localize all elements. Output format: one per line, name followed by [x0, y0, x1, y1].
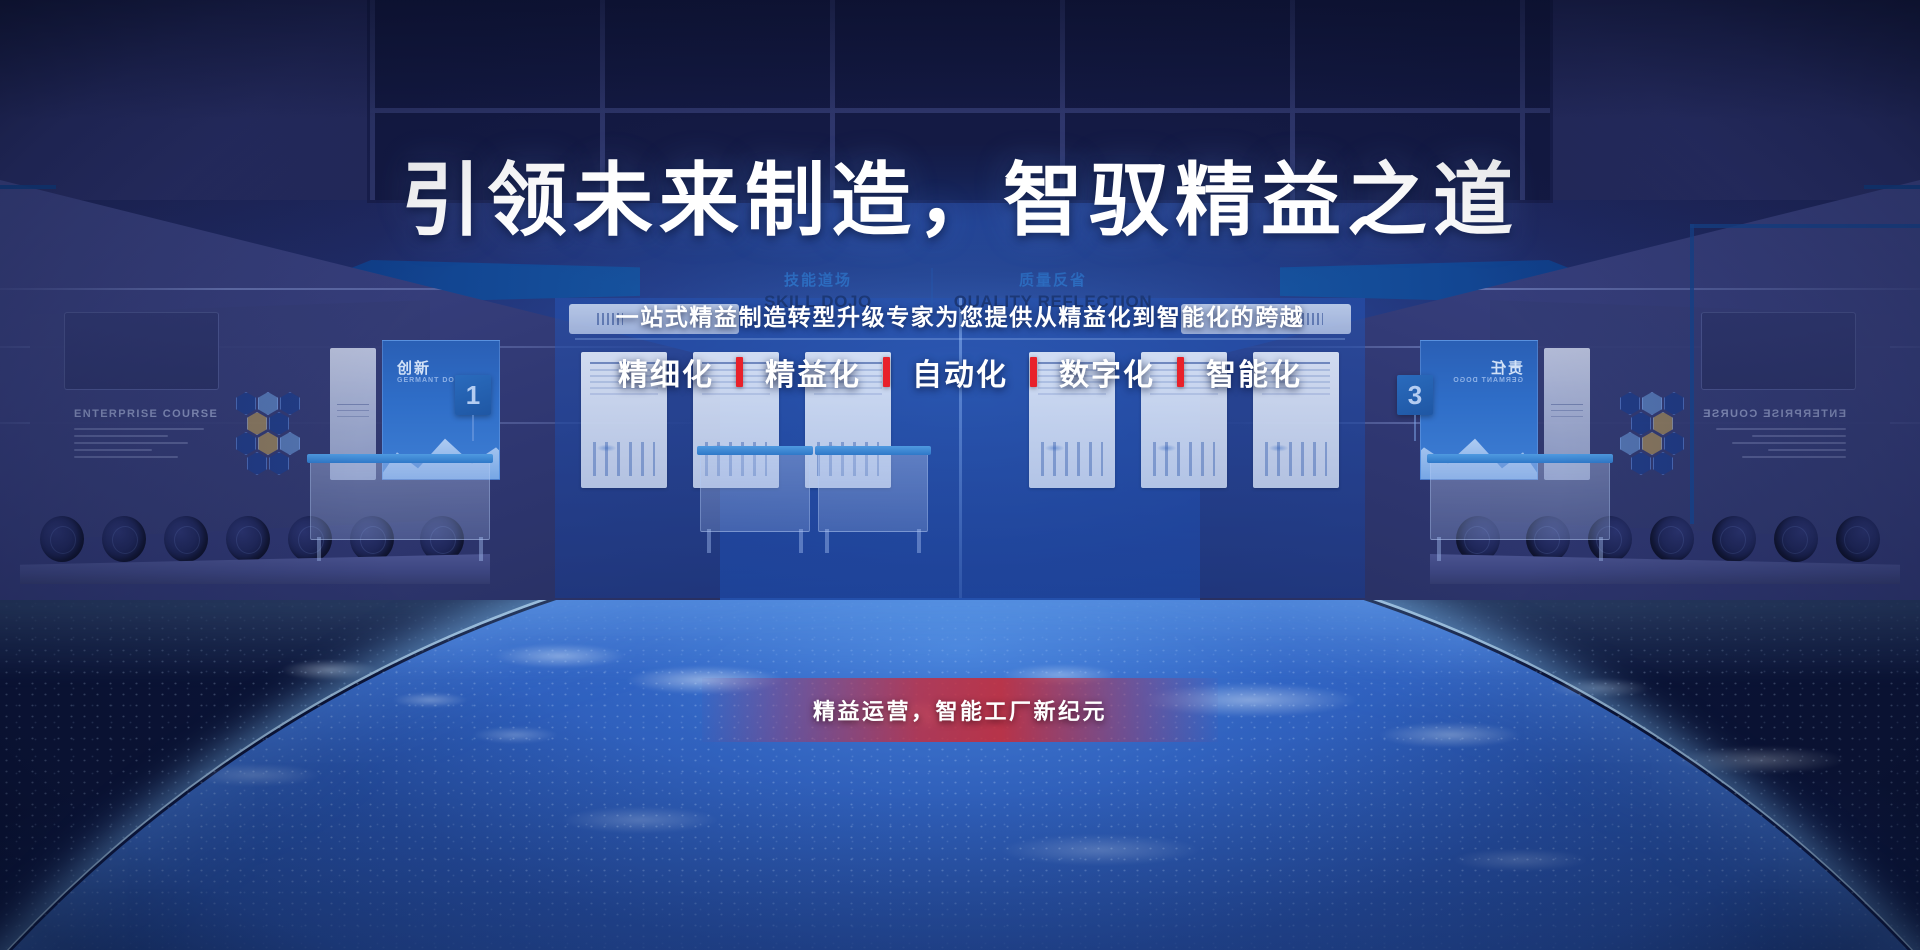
keyword-separator-icon: [1177, 357, 1184, 387]
keyword-separator-icon: [736, 357, 743, 387]
banner-content: 引领未来制造，智驭精益之道 一站式精益制造转型升级专家为您提供从精益化到智能化的…: [0, 0, 1920, 950]
hero-banner: ENTERPRISE COURSE 创新 GERMANT DOGO: [0, 0, 1920, 950]
page-subtitle: 一站式精益制造转型升级专家为您提供从精益化到智能化的跨越: [616, 298, 1305, 332]
keyword-separator-icon: [883, 357, 890, 387]
keyword-item: 精益化: [743, 350, 883, 394]
keyword-list: 精细化 精益化 自动化 数字化 智能化: [596, 350, 1324, 394]
keyword-item: 自动化: [890, 350, 1030, 394]
tagline-ribbon: 精益运营，智能工厂新纪元: [702, 678, 1218, 742]
keyword-separator-icon: [1030, 357, 1037, 387]
keyword-item: 精细化: [596, 350, 736, 394]
page-title: 引领未来制造，智驭精益之道: [401, 136, 1519, 252]
keyword-item: 数字化: [1037, 350, 1177, 394]
keyword-item: 智能化: [1184, 350, 1324, 394]
tagline-text: 精益运营，智能工厂新纪元: [813, 694, 1107, 726]
